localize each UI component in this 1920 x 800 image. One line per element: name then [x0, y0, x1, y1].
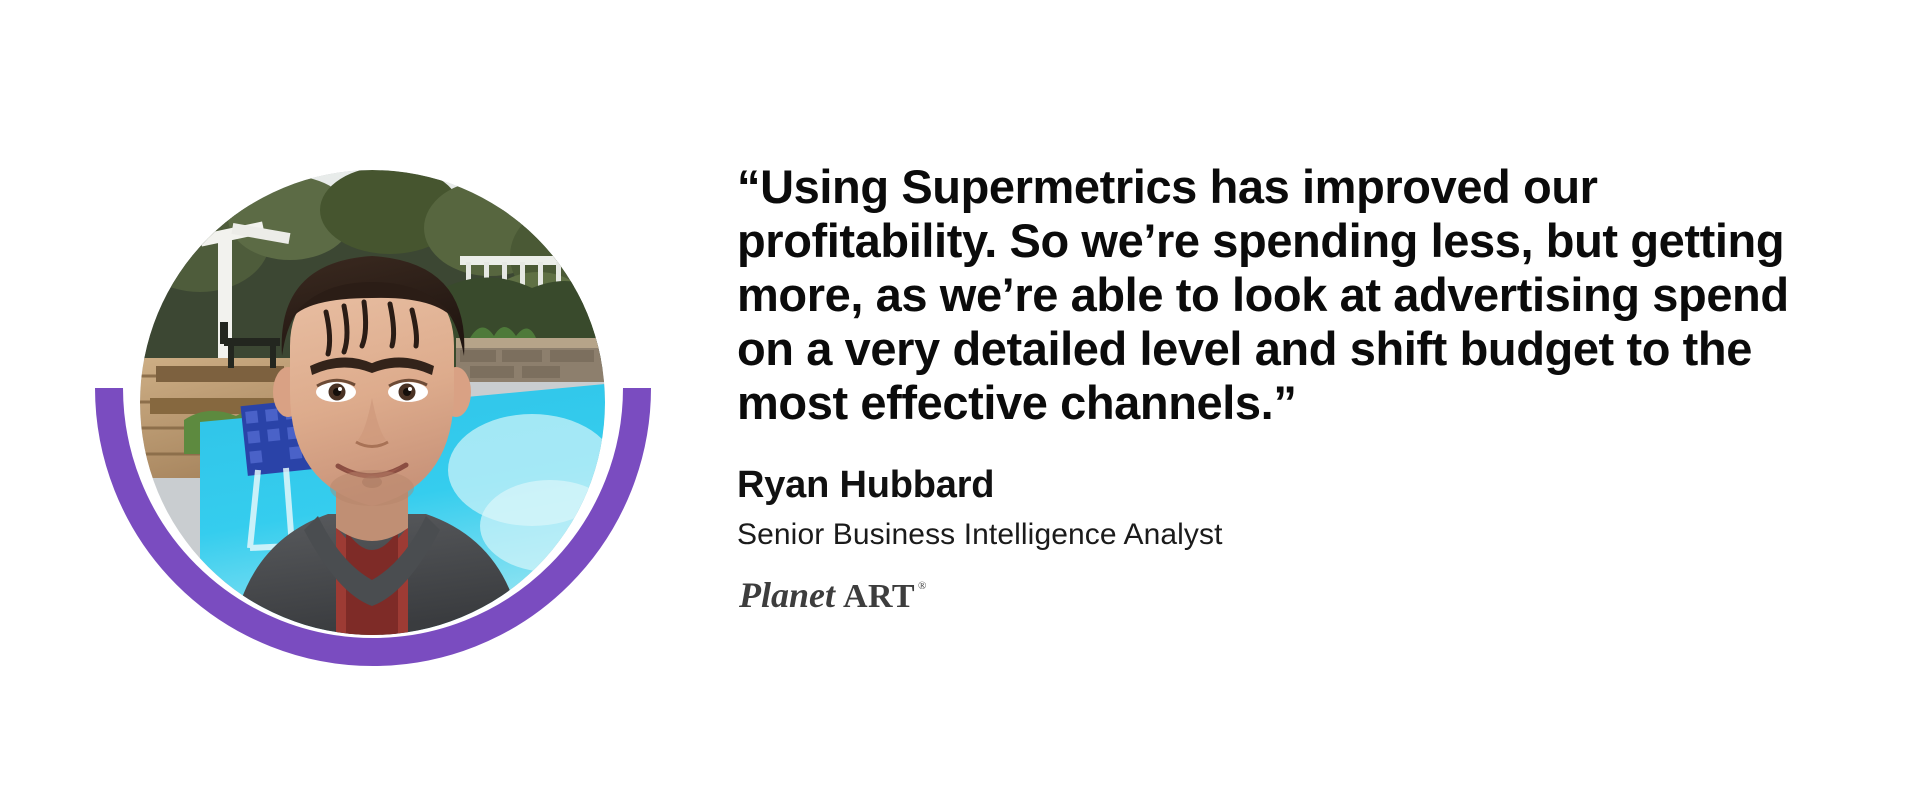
attribution: Ryan Hubbard Senior Business Intelligenc… [737, 462, 1637, 618]
planetart-logo-icon: PlanetART Planet ART ® [737, 574, 937, 618]
logo-caps-text: ART [843, 578, 915, 615]
avatar-photo: Portrait photo of Ryan Hubbard standing … [140, 170, 605, 635]
quote-container: “Using Supermetrics has improved our pro… [737, 160, 1857, 430]
testimonial-card: Portrait photo of Ryan Hubbard standing … [0, 0, 1920, 800]
logo-trademark-text: ® [918, 580, 926, 592]
logo-script-text: Planet [738, 575, 836, 615]
company-logo: PlanetART Planet ART ® [737, 574, 1637, 618]
author-role: Senior Business Intelligence Analyst [737, 516, 1637, 554]
avatar-photo-illustration: Portrait photo of Ryan Hubbard standing … [140, 170, 605, 635]
quote-text: “Using Supermetrics has improved our pro… [737, 160, 1857, 430]
avatar: Portrait photo of Ryan Hubbard standing … [95, 160, 655, 680]
author-name: Ryan Hubbard [737, 462, 1637, 508]
